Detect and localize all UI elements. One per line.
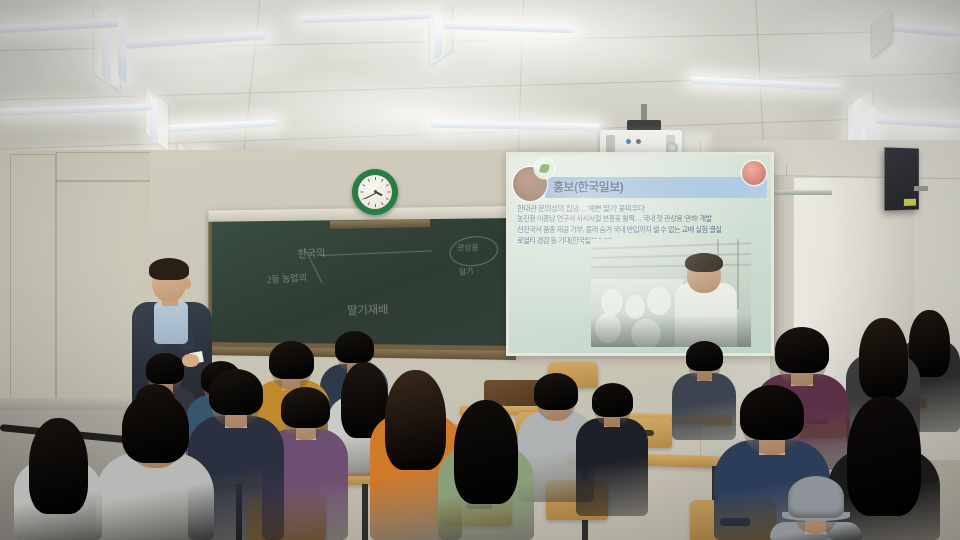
projection-screen: 홍보(한국일보) 한대관 문의성의 집념… '예쁜 딸기' 꽃피우다 농진청 이… (506, 152, 774, 356)
person-hair (146, 353, 184, 384)
person-hair (335, 331, 374, 363)
fluorescent-tube (118, 15, 127, 83)
chalk-note: 한국의 (297, 244, 326, 261)
person-hair (859, 318, 908, 398)
fluorescent-tube (150, 95, 158, 145)
student-edge-left (14, 420, 102, 540)
curtain-rail (772, 190, 832, 195)
chalk-note: 딸기재배 (347, 301, 389, 319)
slide-surface: 홍보(한국일보) 한대관 문의성의 집념… '예쁜 딸기' 꽃피우다 농진청 이… (509, 155, 771, 353)
person-hair (775, 327, 829, 373)
student-gray-cap (770, 480, 862, 540)
person-hair (592, 383, 633, 417)
presenter-ear (184, 278, 191, 289)
person-hair (385, 370, 446, 470)
chalk-note: 2등 농업의 (267, 269, 308, 286)
person-hair (454, 400, 518, 504)
presenter-shirt (154, 302, 188, 344)
clock-minute-hand (364, 192, 375, 199)
person-hair (788, 476, 844, 518)
person-hair (281, 387, 330, 428)
person-hair (686, 341, 723, 371)
chalk-note: 딸기 (458, 265, 474, 278)
person-hair (122, 392, 189, 463)
wall-clock (352, 169, 398, 215)
wall-speaker (885, 147, 919, 210)
student-black-long-hair (438, 402, 534, 540)
person-hair (29, 418, 88, 514)
speaker-bracket (914, 186, 928, 191)
fluorescent-tube (434, 11, 442, 60)
chalk-note: 관상용 (457, 242, 479, 253)
classroom-presentation-photo: 한국의 2등 농업의 딸기재배 관상용 딸기 (0, 0, 960, 540)
person-hair (740, 385, 804, 440)
student-gray-hoodie-front (96, 400, 214, 540)
person-hair (534, 373, 578, 410)
person-torso (576, 418, 648, 516)
student-dark-coat-mid (576, 386, 648, 516)
person-hair (209, 369, 263, 415)
presenter-hair (149, 258, 189, 280)
